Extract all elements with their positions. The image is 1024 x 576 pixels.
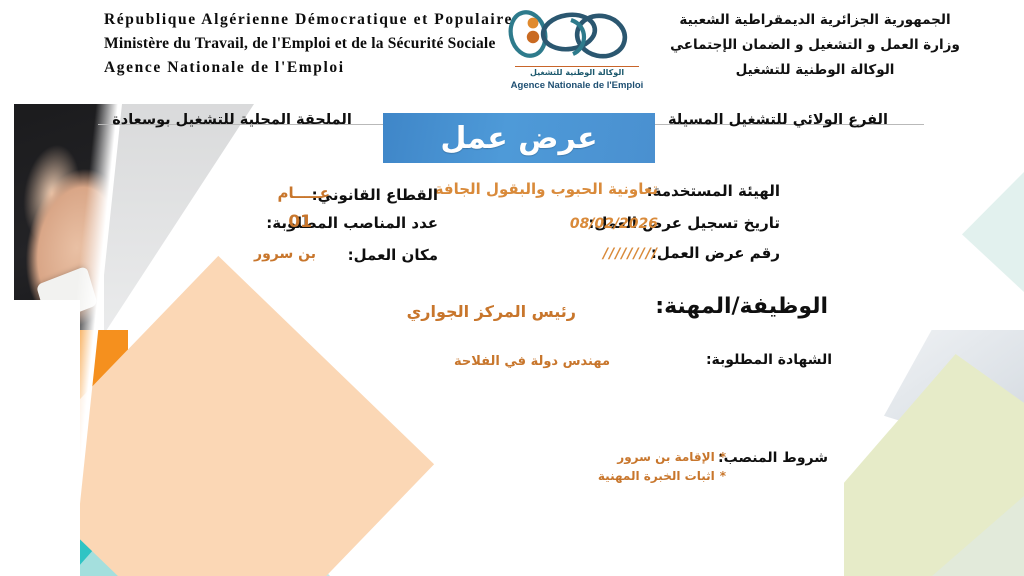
handshake-photo-strip xyxy=(0,104,118,576)
peach-mask-left xyxy=(0,300,80,576)
header-arabic-line-2: وزارة العمل و التشغيل و الضمان الإجتماعي xyxy=(620,33,1010,58)
right-teal-wedge-decoration xyxy=(962,172,1024,292)
condition-bullet: * xyxy=(720,450,726,464)
logo-french-caption: Agence Nationale de l'Emploi xyxy=(497,80,657,91)
employer-label: الهيئة المستخدمة: xyxy=(647,182,780,200)
conditions-label: شروط المنصب: xyxy=(718,450,828,466)
header-arabic-line-1: الجمهورية الجزائرية الديمقراطية الشعبية xyxy=(620,8,1010,33)
diploma-label: الشهادة المطلوبة: xyxy=(706,352,832,368)
anem-logo-mark xyxy=(497,6,657,68)
header-french-line-3: Agence Nationale de l'Emploi xyxy=(104,56,484,80)
offer-number-value: ///////// xyxy=(603,246,658,262)
logo-orange-dot-lower xyxy=(527,31,539,43)
header-french-line-1: République Algérienne Démocratique et Po… xyxy=(104,8,484,32)
legal-sector-value: عـــــام xyxy=(277,184,330,202)
diploma-value: مهندس دولة في الفلاحة xyxy=(454,354,610,369)
condition-item: *الإقامة بن سرور xyxy=(598,448,726,467)
job-offer-document: République Algérienne Démocratique et Po… xyxy=(0,0,1024,576)
right-teal-corner-decoration xyxy=(932,496,1024,576)
photo-strip-fade-edge xyxy=(46,104,122,576)
photo-shirt-cuff xyxy=(36,266,98,324)
left-margin-mask xyxy=(0,104,14,576)
olive-polygon-decoration xyxy=(844,354,1024,576)
legal-sector-label: القطاع القانوني: xyxy=(312,186,438,204)
header-french-block: République Algérienne Démocratique et Po… xyxy=(104,8,484,80)
grey-wedge-decoration xyxy=(104,104,254,334)
photo-suit-region xyxy=(0,104,118,404)
profession-value: رئيس المركز الجواري xyxy=(407,302,576,321)
document-header: République Algérienne Démocratique et Po… xyxy=(0,0,1024,104)
local-annex-label: الملحقة المحلية للتشغيل بوسعادة xyxy=(82,112,382,128)
logo-orange-dot-upper xyxy=(528,18,539,29)
workplace-value: بن سرور xyxy=(254,246,316,262)
photo-floor-tiles xyxy=(0,396,87,576)
light-teal-triangle-decoration xyxy=(70,430,330,576)
positions-count-value: 01 xyxy=(288,212,312,232)
peach-diamond-decoration xyxy=(10,256,434,576)
header-french-line-2: Ministère du Travail, de l'Emploi et de … xyxy=(104,32,484,56)
anem-logo: الوكالة الوطنية للتشغيل Agence Nationale… xyxy=(497,6,657,100)
condition-item: *اثبات الخبرة المهنية xyxy=(598,467,726,486)
employer-value: تعاونية الحبوب والبقول الجافة xyxy=(435,180,658,198)
profession-label: الوظيفة/المهنة: xyxy=(655,294,828,319)
header-arabic-line-3: الوكالة الوطنية للتشغيل xyxy=(620,58,1010,83)
registration-date-value: 08/02/2026 xyxy=(570,216,658,232)
conditions-list: *الإقامة بن سرور *اثبات الخبرة المهنية xyxy=(598,448,726,486)
condition-text: الإقامة بن سرور xyxy=(617,450,714,464)
condition-text: اثبات الخبرة المهنية xyxy=(598,469,715,483)
job-offer-title-text: عرض عمل xyxy=(440,121,597,156)
right-photo-fragment xyxy=(884,330,1024,460)
job-offer-title-banner: عرض عمل xyxy=(383,113,655,163)
condition-bullet: * xyxy=(720,469,726,483)
logo-arabic-caption: الوكالة الوطنية للتشغيل xyxy=(497,68,657,77)
offer-number-label: رقم عرض العمل: xyxy=(651,244,780,262)
teal-triangle-decoration xyxy=(8,450,148,576)
photo-dark-edge xyxy=(0,396,3,576)
wilaya-branch-label: الفرع الولائي للتشغيل المسيلة xyxy=(628,112,928,128)
workplace-label: مكان العمل: xyxy=(348,246,438,264)
header-arabic-block: الجمهورية الجزائرية الديمقراطية الشعبية … xyxy=(620,8,1010,83)
orange-triangle-decoration xyxy=(18,330,128,460)
